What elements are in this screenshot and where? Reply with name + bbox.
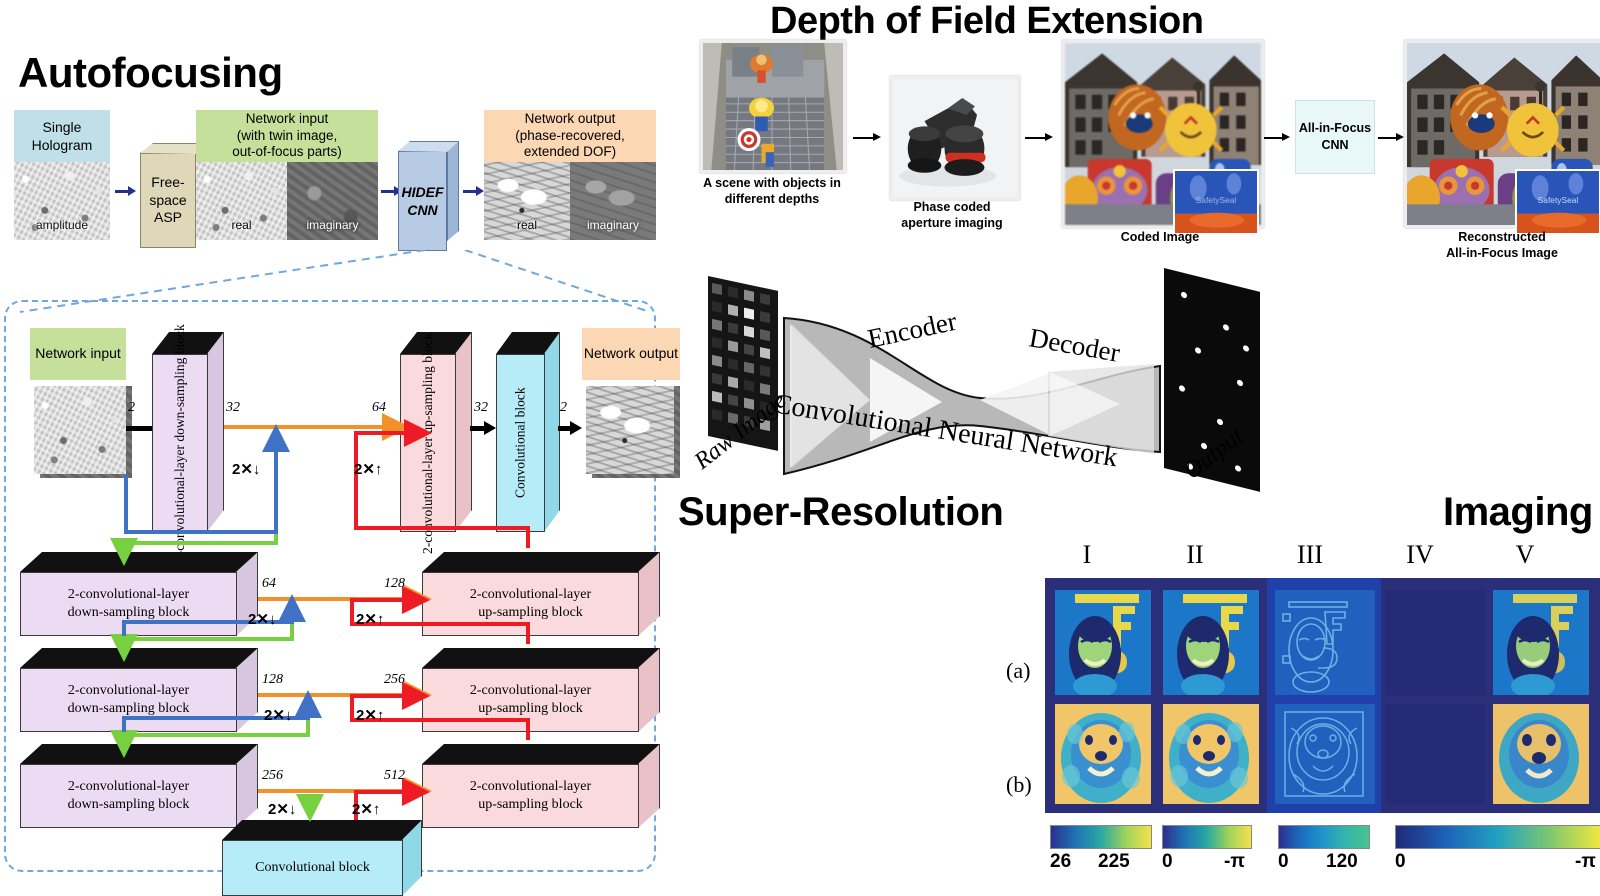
unet-up-block-0: 2-convolutional-layer up-sampling block [400,332,472,532]
super-resolution-title: Super-Resolution [678,492,1003,532]
dof-coded-inset: SafetySeal [1173,169,1259,235]
unet-down-label-1: 2✕↓ [248,610,276,628]
network-input-sub-left: real [196,218,287,234]
unet-up-block-1: 2-convolutional-layer up-sampling block [422,552,660,636]
imaging-cell-b1 [1055,704,1151,804]
imaging-cell-a1 [1055,590,1151,695]
dof-reconstructed-caption: Reconstructed All-in-Focus Image [1404,230,1600,261]
imaging-col-header-3: III [1285,540,1335,570]
unet-diagram: Network input 2 2-convolutional-layer do… [4,300,656,872]
inset-text-coded: SafetySeal [1196,195,1237,205]
colorbar-1-min: 26 [1050,851,1071,873]
all-in-focus-cnn-box: All-in-Focus CNN [1295,100,1375,174]
imaging-col-header-1: I [1062,540,1112,570]
unet-up-label-0: 2✕↑ [354,460,382,478]
dof-coded-caption: Coded Image [1062,230,1258,246]
colorbar-3 [1278,825,1370,849]
imaging-figure: I II III IV V (a) (b) [1010,540,1600,880]
network-output-label: Network output (phase-recovered, extende… [484,110,656,162]
inset-text-reconstructed: SafetySeal [1538,195,1579,205]
network-input-sub-right: imaginary [287,218,378,234]
autofocusing-pipeline: Single Hologram amplitude Free- space AS… [0,105,660,265]
network-input-label: Network input (with twin image, out-of-f… [196,110,378,162]
unet-down-block-3-label: 2-convolutional-layer down-sampling bloc… [20,764,237,828]
unet-up-label-3: 2✕↑ [352,800,380,818]
unet-channels-conv: 32 [474,400,488,416]
unet-up-block-2-label: 2-convolutional-layer up-sampling block [422,668,639,732]
colorbar-1-max: 225 [1098,851,1130,873]
dof-scene-frame [700,40,846,173]
unet-down-label-2: 2✕↓ [264,706,292,724]
unet-up-block-3-label: 2-convolutional-layer up-sampling block [422,764,639,828]
unet-down-block-1-label: 2-convolutional-layer down-sampling bloc… [20,572,237,636]
unet-output-image [586,386,674,474]
imaging-panel [1045,578,1600,813]
encoder-label: Encoder [865,306,959,354]
unet-input-image [34,386,126,474]
unet-up-block-3: 2-convolutional-layer up-sampling block [422,744,660,828]
unet-output-tag: Network output [582,328,680,380]
network-output-sub-right: imaginary [570,218,656,234]
colorbar-2-min: 0 [1162,851,1173,873]
unet-up-block-0-label: 2-convolutional-layer up-sampling block [400,354,456,532]
unet-channels-up0: 64 [372,400,386,416]
hidef-cnn-block: HIDEF CNN [398,141,460,251]
unet-down-block-2: 2-convolutional-layer down-sampling bloc… [20,648,258,732]
unet-down-label-0: 2✕↓ [232,460,260,478]
network-output-sub-left: real [484,218,570,234]
unet-channels-output: 2 [560,400,567,416]
imaging-col-header-4: IV [1395,540,1445,570]
imaging-cell-b2 [1163,704,1259,804]
unet-down-block-3: 2-convolutional-layer down-sampling bloc… [20,744,258,828]
colorbar-4-max: -π [1575,851,1596,873]
autofocusing-title: Autofocusing [18,52,283,94]
unet-input-tag: Network input [30,328,126,380]
imaging-cell-a4 [1385,590,1485,695]
unet-channels-up1: 128 [384,576,405,592]
colorbar-2-max: -π [1224,851,1245,873]
unet-conv-block-top: Convolutional block [496,332,560,532]
unet-up-label-2: 2✕↑ [356,706,384,724]
unet-up-label-1: 2✕↑ [356,610,384,628]
unet-channels-up3: 512 [384,768,405,784]
imaging-cell-b5 [1493,704,1589,804]
decoder-label: Decoder [1027,322,1122,367]
imaging-col-header-5: V [1500,540,1550,570]
dof-title: Depth of Field Extension [770,2,1203,40]
free-space-asp-label: Free- space ASP [140,153,196,248]
dof-reconstructed-inset: SafetySeal [1515,169,1600,235]
unet-channels-level0: 32 [226,400,240,416]
colorbar-4 [1395,825,1600,849]
single-hologram-label: Single Hologram [14,110,110,162]
unet-down-block-2-label: 2-convolutional-layer down-sampling bloc… [20,668,237,732]
unet-down-block-1: 2-convolutional-layer down-sampling bloc… [20,552,258,636]
imaging-col-header-2: II [1170,540,1220,570]
single-hologram-sub: amplitude [14,218,110,234]
dof-aperture-frame [890,76,1020,200]
unet-conv-block-bottom: Convolutional block [222,820,422,896]
imaging-title: Imaging [1443,492,1593,532]
imaging-cell-a2 [1163,590,1259,695]
dof-section: A scene with objects in different depths… [670,38,1600,268]
unet-up-block-1-label: 2-convolutional-layer up-sampling block [422,572,639,636]
unet-channels-level3: 256 [262,768,283,784]
hidef-cnn-label: HIDEF CNN [398,151,447,251]
unet-down-block-0-label: 2-convolutional-layer down-sampling bloc… [152,354,208,532]
unet-conv-block-bottom-label: Convolutional block [222,840,403,896]
colorbar-2 [1162,825,1252,849]
colorbar-1 [1050,825,1152,849]
unet-channels-input: 2 [128,400,135,416]
unet-channels-level2: 128 [262,672,283,688]
dof-reconstructed-frame: SafetySeal [1404,40,1600,228]
dof-coded-frame: SafetySeal [1062,40,1264,228]
unet-channels-level1: 64 [262,576,276,592]
imaging-row-label-b: (b) [1006,772,1032,798]
dof-aperture-caption: Phase coded aperture imaging [878,200,1026,231]
unet-channels-up2: 256 [384,672,405,688]
imaging-cell-b3 [1275,704,1375,804]
unet-down-block-0: 2-convolutional-layer down-sampling bloc… [152,332,224,532]
imaging-cell-a5 [1493,590,1589,695]
unet-up-block-2: 2-convolutional-layer up-sampling block [422,648,660,732]
unet-conv-block-top-label: Convolutional block [496,354,545,532]
dof-scene-caption: A scene with objects in different depths [674,176,870,207]
colorbar-3-max: 120 [1326,851,1358,873]
colorbar-4-min: 0 [1395,851,1406,873]
unet-down-label-3: 2✕↓ [268,800,296,818]
colorbar-3-min: 0 [1278,851,1289,873]
imaging-row-label-a: (a) [1006,658,1030,684]
imaging-cell-a3 [1275,590,1375,695]
imaging-cell-b4 [1385,704,1485,804]
